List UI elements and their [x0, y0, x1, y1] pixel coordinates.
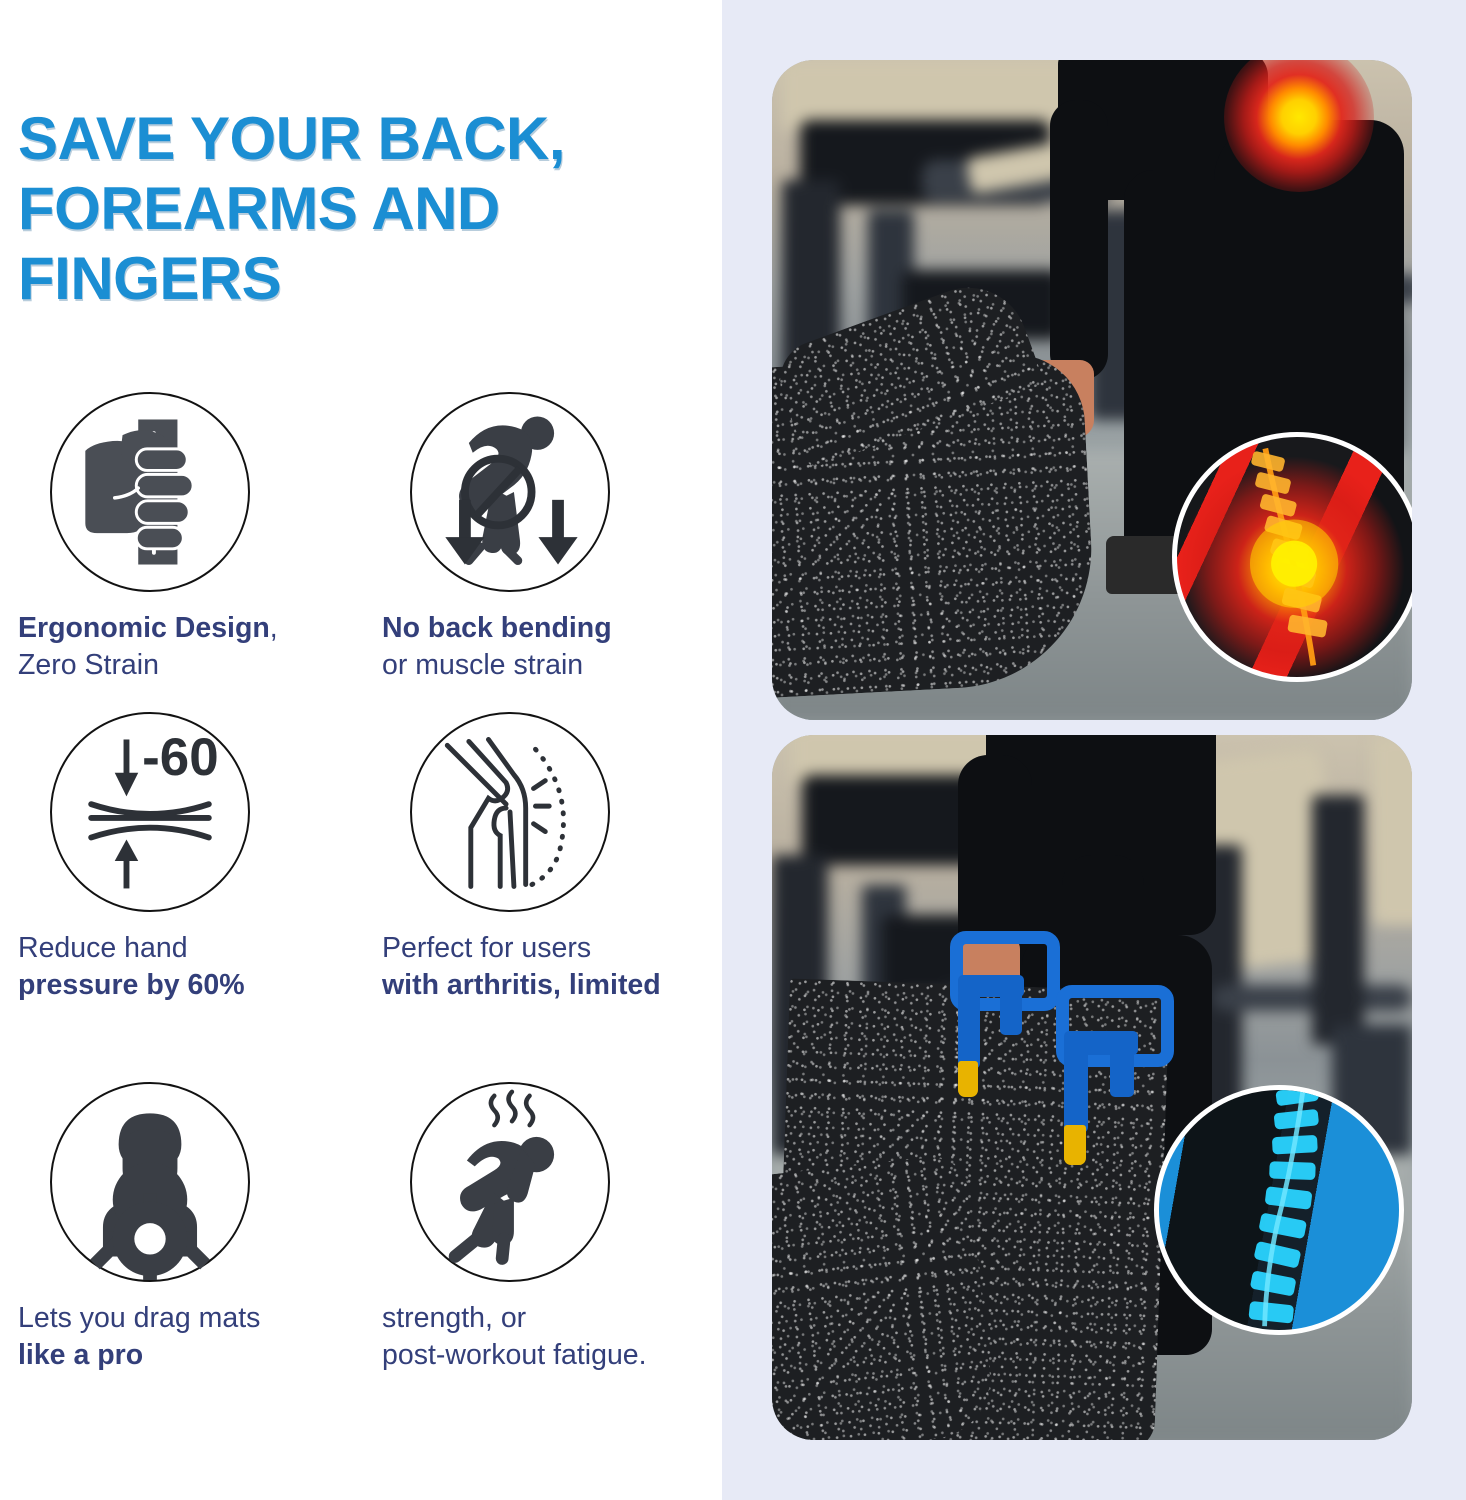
- right-photo-panel: [722, 0, 1466, 1500]
- feature-ergonomic-design: Ergonomic Design, Zero Strain: [12, 392, 352, 684]
- feature-label: Lets you drag mats like a pro: [12, 1300, 352, 1374]
- tool-jaw-yellow: [1064, 1125, 1086, 1165]
- feature-label: Reduce hand pressure by 60%: [12, 930, 352, 1004]
- pressure-reduction-icon: -60: [50, 712, 250, 912]
- feature-row-2: -60 Reduce hand pressure by 60%: [0, 712, 722, 1082]
- photo-manual-drag: [772, 60, 1412, 720]
- rubber-gym-mat-curl: [772, 1154, 996, 1440]
- no-back-bending-icon: [410, 392, 610, 592]
- joint-knee-icon: [410, 712, 610, 912]
- feature-line-2: or muscle strain: [382, 647, 722, 684]
- feature-no-back-bending: No back bending or muscle strain: [382, 392, 722, 684]
- infographic-page: SAVE YOUR BACK, FOREARMS AND FINGERS: [0, 0, 1466, 1500]
- feature-drag-like-a-pro: Lets you drag mats like a pro: [12, 1082, 352, 1374]
- feature-line-2: Zero Strain: [18, 647, 352, 684]
- gripping-hand-icon: [50, 392, 250, 592]
- feature-line-1: Perfect for users: [382, 930, 722, 967]
- feature-line-1: strength, or: [382, 1300, 722, 1337]
- feature-line-2: pressure by 60%: [18, 967, 352, 1004]
- feature-arthritis-friendly: Perfect for users with arthritis, limite…: [382, 712, 722, 1004]
- feature-line-1: Ergonomic Design,: [18, 610, 352, 647]
- feature-line-1: No back bending: [382, 610, 722, 647]
- feature-post-workout-fatigue: strength, or post-workout fatigue.: [382, 1082, 722, 1374]
- photo-tool-carry: [772, 735, 1412, 1440]
- feature-label: Perfect for users with arthritis, limite…: [382, 930, 722, 1004]
- page-title: SAVE YOUR BACK, FOREARMS AND FINGERS: [18, 104, 708, 315]
- feature-label: Ergonomic Design, Zero Strain: [12, 610, 352, 684]
- inset-painful-spine: [1172, 432, 1412, 682]
- headline-line-1: SAVE YOUR BACK,: [18, 104, 708, 174]
- user-gear-icon: [50, 1082, 250, 1282]
- fatigued-person-icon: [410, 1082, 610, 1282]
- feature-line-1: Reduce hand: [18, 930, 352, 967]
- inset-healthy-spine: [1154, 1085, 1404, 1335]
- feature-line-1: Lets you drag mats: [18, 1300, 352, 1337]
- feature-line-2: post-workout fatigue.: [382, 1337, 722, 1374]
- feature-label: No back bending or muscle strain: [382, 610, 722, 684]
- svg-text:-60: -60: [142, 728, 218, 787]
- left-content-panel: SAVE YOUR BACK, FOREARMS AND FINGERS: [0, 0, 722, 1500]
- feature-label: strength, or post-workout fatigue.: [382, 1300, 722, 1374]
- feature-line-2: with arthritis, limited: [382, 967, 722, 1004]
- feature-line-2: like a pro: [18, 1337, 352, 1374]
- feature-row-3: Lets you drag mats like a pro: [0, 1082, 722, 1402]
- feature-reduce-pressure: -60 Reduce hand pressure by 60%: [12, 712, 352, 1004]
- feature-row-1: Ergonomic Design, Zero Strain: [0, 392, 722, 712]
- headline-line-3: FINGERS: [18, 244, 708, 314]
- tool-jaw-yellow: [958, 1061, 978, 1097]
- feature-grid: Ergonomic Design, Zero Strain: [0, 392, 722, 1402]
- headline-line-2: FOREARMS AND: [18, 174, 708, 244]
